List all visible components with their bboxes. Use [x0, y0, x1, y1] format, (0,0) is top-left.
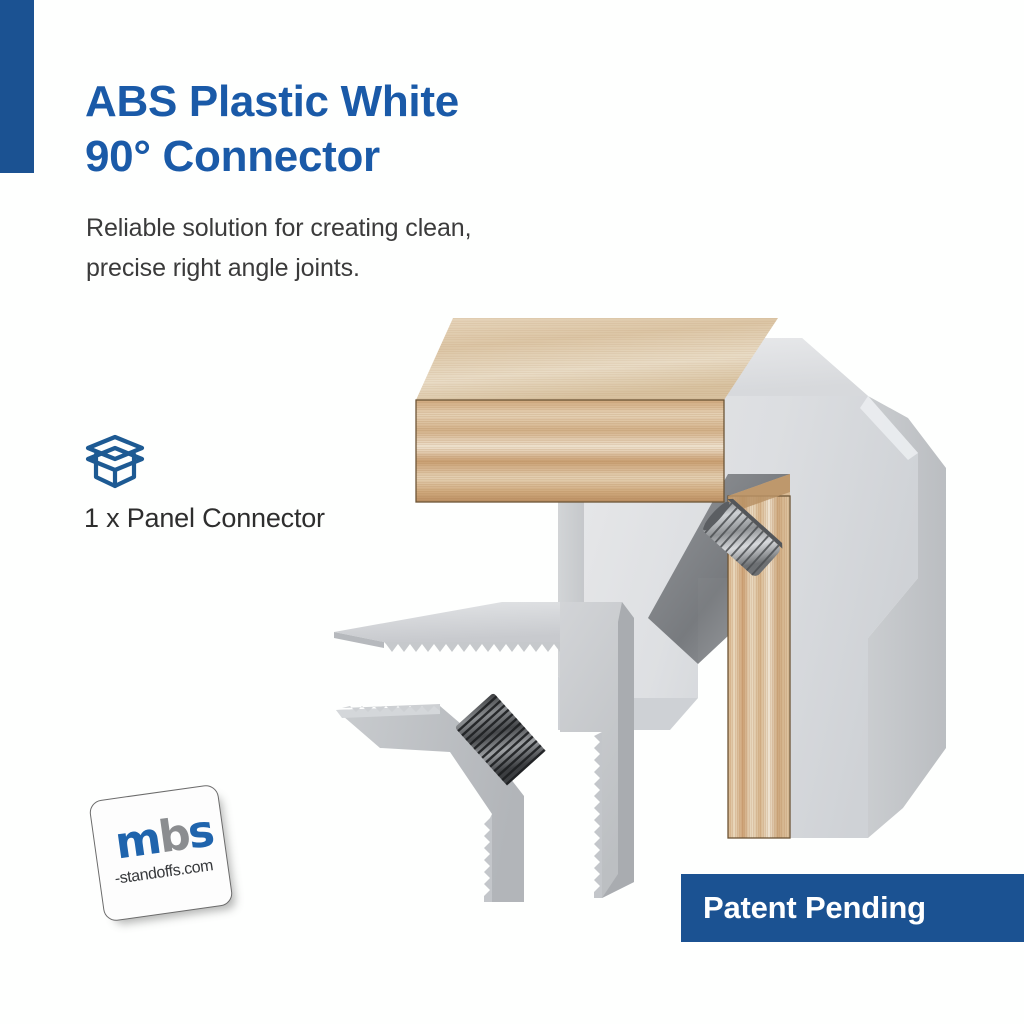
page-subtitle: Reliable solution for creating clean, pr…: [86, 208, 646, 288]
page-title: ABS Plastic White 90° Connector: [85, 74, 705, 184]
subtitle-line-1: Reliable solution for creating clean,: [86, 214, 471, 242]
left-accent-bar: [0, 0, 34, 173]
logo-letter-m: m: [112, 813, 163, 870]
open-box-icon: [82, 434, 148, 492]
connector-cross-section-render: [322, 582, 662, 922]
product-marketing-canvas: ABS Plastic White 90° Connector Reliable…: [0, 0, 1024, 1024]
title-line-1: ABS Plastic White: [85, 77, 459, 126]
title-line-2: 90° Connector: [85, 129, 705, 184]
patent-pending-badge: Patent Pending: [681, 874, 1024, 942]
mbs-logo: mbs -standoffs.com: [88, 786, 240, 926]
package-contents-label: 1 x Panel Connector: [84, 503, 325, 534]
patent-pending-label: Patent Pending: [703, 890, 926, 926]
